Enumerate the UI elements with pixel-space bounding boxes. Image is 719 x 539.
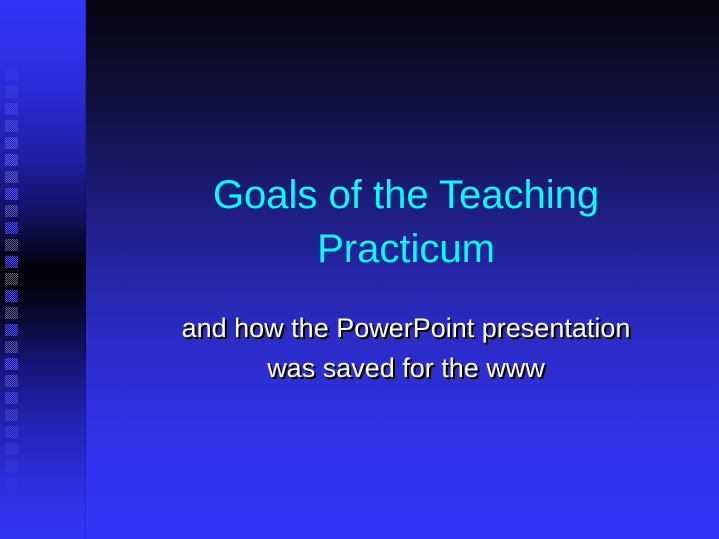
dotted-square — [5, 256, 18, 268]
dotted-square — [5, 69, 18, 81]
dotted-square — [5, 341, 18, 353]
dotted-square — [5, 290, 18, 302]
dotted-square-column — [5, 69, 18, 493]
dotted-square — [5, 222, 18, 234]
dotted-square — [5, 103, 18, 115]
dotted-square — [5, 307, 18, 319]
dotted-square — [5, 375, 18, 387]
dotted-square — [5, 273, 18, 285]
dotted-square — [5, 154, 18, 166]
presentation-slide: Goals of the Teaching Practicum and how … — [0, 0, 719, 539]
dotted-square — [5, 120, 18, 132]
dotted-square — [5, 205, 18, 217]
dotted-square — [5, 443, 18, 455]
slide-text-block: Goals of the Teaching Practicum and how … — [86, 0, 719, 539]
dotted-square — [5, 86, 18, 98]
dotted-square — [5, 171, 18, 183]
dotted-square — [5, 324, 18, 336]
dotted-square — [5, 409, 18, 421]
dotted-square — [5, 426, 18, 438]
slide-title: Goals of the Teaching Practicum — [166, 168, 646, 276]
dotted-square — [5, 477, 18, 489]
dotted-square — [5, 239, 18, 251]
dotted-square — [5, 358, 18, 370]
slide-subtitle: and how the PowerPoint presentation was … — [166, 308, 646, 388]
dotted-square — [5, 188, 18, 200]
dotted-square — [5, 392, 18, 404]
dotted-square — [5, 460, 18, 472]
dotted-square — [5, 137, 18, 149]
